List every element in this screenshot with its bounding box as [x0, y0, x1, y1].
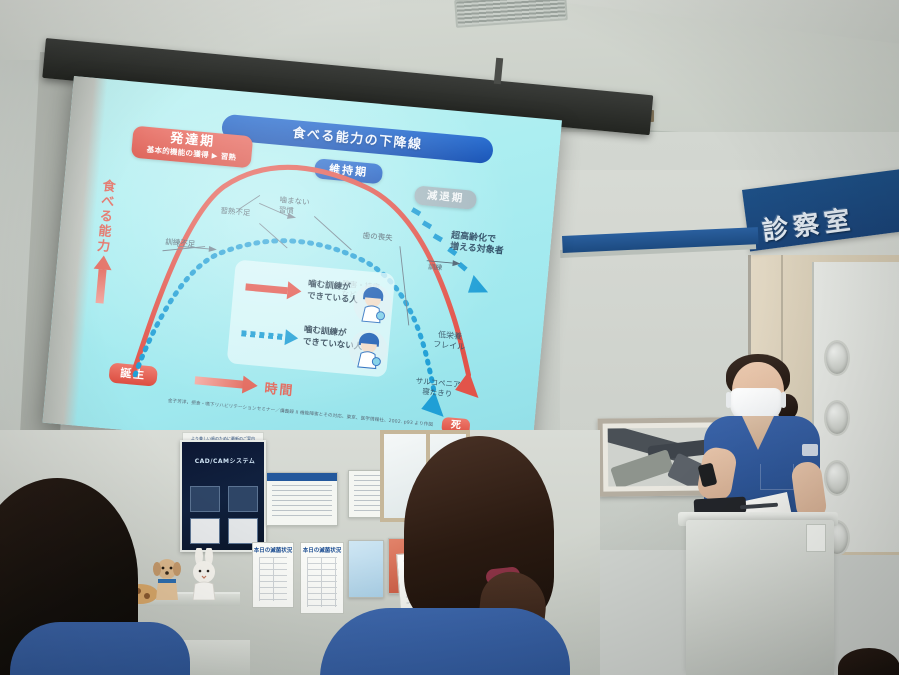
poster-image — [228, 486, 258, 512]
audience-member-center-body — [320, 608, 570, 675]
person-illustration-icon — [347, 326, 391, 371]
poster-image — [190, 518, 220, 544]
poster-image — [190, 486, 220, 512]
poster-title: CAD/CAMシステム — [186, 456, 264, 465]
dog-plush-toy — [152, 556, 182, 600]
projection-screen: 食べる能力の下降線 発達期 基本的機能の獲得 ▶ 習熟 維持期 減退期 食べる能… — [42, 76, 562, 467]
photo-scene: 診察室 食べる能力の下降線 発達期 基本的機能の獲得 ▶ 習熟 維持期 減退期 — [0, 0, 899, 675]
slide-legend: 噛む訓練が できている人 噛む訓練が できてい — [227, 259, 396, 377]
artwork-stroke — [610, 449, 674, 486]
annotation-no-chewing-habit: 噛まない 習慣 — [278, 195, 310, 217]
annotation-training: 訓練 — [428, 263, 443, 274]
annotation-malnutrition-frailty: 低栄養 フレイル — [433, 330, 467, 353]
audience-member-left-body — [10, 622, 190, 675]
leaflet — [348, 540, 384, 598]
sterilization-sheet-2: 本日の滅菌状況 — [300, 542, 344, 614]
presenter-shoulder-badge — [802, 444, 818, 456]
annotation-sarcopenia-bedridden: サルコペニア 寝たきり — [414, 376, 460, 399]
dotted-arrow-icon — [241, 330, 283, 340]
sheet-title: 本日の滅菌状況 — [301, 546, 343, 554]
annotation-super-aging-population: 超高齢化で 増える対象者 — [450, 231, 506, 258]
notice-main — [266, 472, 338, 526]
slide-content: 食べる能力の下降線 発達期 基本的機能の獲得 ▶ 習熟 維持期 減退期 食べる能… — [42, 76, 562, 467]
podium-card — [806, 524, 826, 552]
bunny-plush-toy — [188, 548, 220, 600]
poster-image — [228, 518, 258, 544]
legend-entry-untrained: 噛む訓練が できていない人 — [239, 316, 392, 371]
sterilization-sheet-1: 本日の滅菌状況 — [252, 542, 294, 608]
presenter-pocket — [760, 464, 794, 490]
audience-member-right-head — [838, 648, 899, 675]
cadcam-poster: CAD/CAMシステム — [180, 440, 266, 552]
person-illustration-icon — [351, 280, 395, 325]
solid-arrow-icon — [245, 283, 287, 294]
sheet-title: 本日の滅菌状況 — [253, 546, 293, 554]
